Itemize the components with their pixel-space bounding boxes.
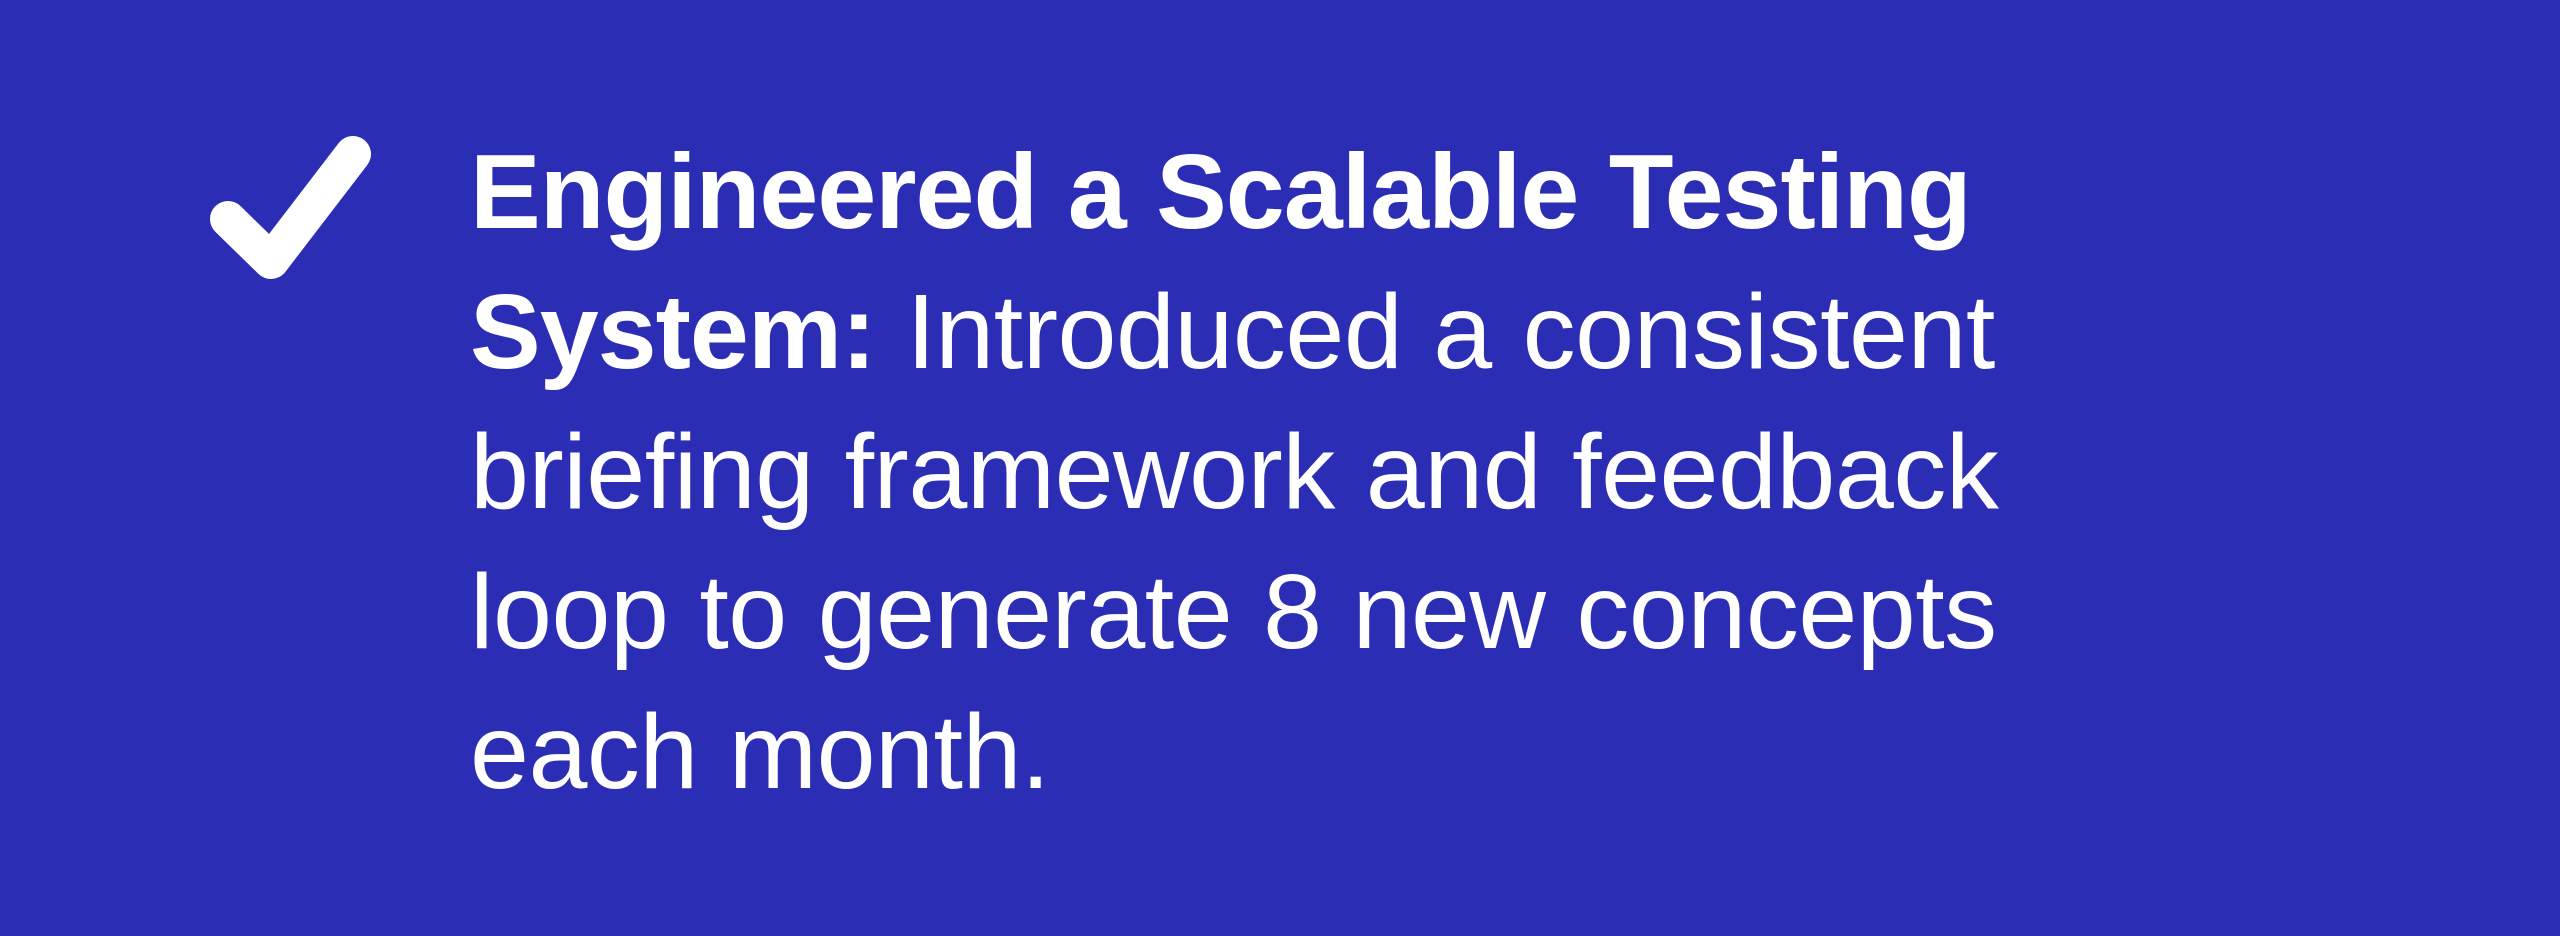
check-icon [208, 134, 373, 279]
bullet-row: Engineered a Scalable Testing System: In… [0, 0, 2560, 936]
slide-canvas: Engineered a Scalable Testing System: In… [0, 0, 2560, 936]
check-icon-cell [0, 122, 470, 279]
bullet-text-cell: Engineered a Scalable Testing System: In… [470, 122, 2560, 822]
bullet-paragraph: Engineered a Scalable Testing System: In… [470, 122, 2130, 822]
